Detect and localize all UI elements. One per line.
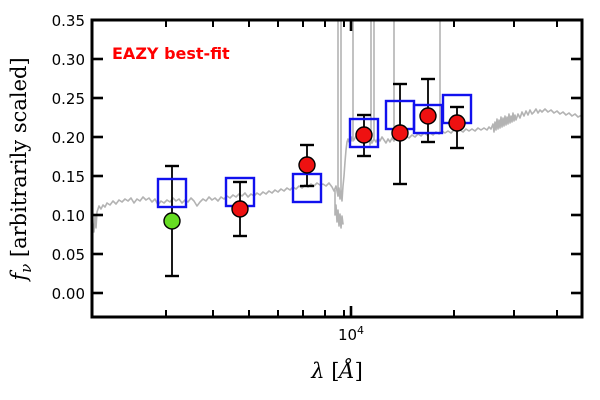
y-tick-label: 0.35 <box>52 12 85 30</box>
y-tick-label: 0.20 <box>52 129 85 147</box>
y-tick-label: 0.05 <box>52 246 85 264</box>
errorbars <box>165 79 464 276</box>
data-point-red <box>420 108 436 124</box>
data-point-green <box>164 213 180 229</box>
data-point-red <box>299 157 315 173</box>
data-point-red <box>356 127 372 143</box>
x-axis-ticks <box>166 20 557 317</box>
y-tick-label: 0.30 <box>52 51 85 69</box>
sed-plot: 0.35 0.30 0.25 0.20 0.15 0.10 0.05 0.00 <box>0 0 600 400</box>
y-tick-label: 0.25 <box>52 90 85 108</box>
data-point-red <box>232 201 248 217</box>
x-tick-label-1e4: 104 <box>338 324 364 344</box>
y-tick-labels: 0.35 0.30 0.25 0.20 0.15 0.10 0.05 0.00 <box>52 12 85 303</box>
axes-frame <box>92 20 582 317</box>
data-point-red <box>449 115 465 131</box>
data-point-red <box>392 125 408 141</box>
x-axis-label: λ [Å] <box>310 358 363 383</box>
figure-panel: 0.35 0.30 0.25 0.20 0.15 0.10 0.05 0.00 <box>0 0 600 400</box>
y-tick-label: 0.15 <box>52 168 85 186</box>
y-tick-label: 0.00 <box>52 285 85 303</box>
y-tick-label: 0.10 <box>52 207 85 225</box>
y-axis-label: fν [arbitrarily scaled] <box>7 57 35 282</box>
observed-photometry-markers <box>164 108 465 229</box>
eazy-annotation: EAZY best-fit <box>112 44 230 63</box>
